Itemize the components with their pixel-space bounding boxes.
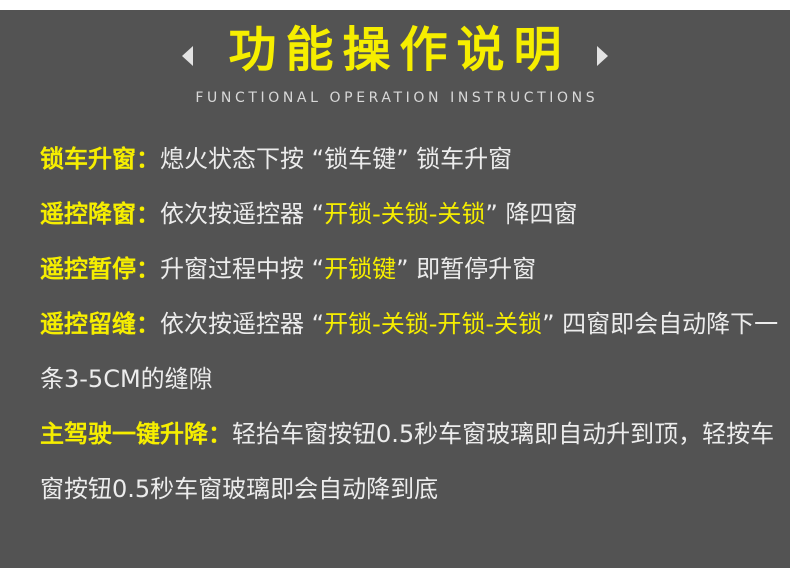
triangle-left-icon (182, 46, 193, 66)
instruction-text-a-3: 升窗过程中按 (160, 255, 312, 283)
instruction-text-b-3: 即暂停升窗 (409, 255, 537, 283)
instruction-text-a-2: 依次按遥控器 (160, 200, 312, 228)
instruction-colon-1: ： (136, 145, 160, 173)
top-white-margin (0, 0, 790, 10)
title-row: 功能操作说明 (0, 18, 790, 82)
instruction-quote-open-4: “ (312, 310, 324, 338)
instruction-quote-text-2: 开锁-关锁-关锁 (324, 200, 485, 228)
instruction-item-4: 遥控留缝：依次按遥控器 “开锁-关锁-开锁-关锁” 四窗即会自动降下一条3-5C… (40, 297, 780, 407)
page-title: 功能操作说明 (219, 21, 570, 79)
instruction-quote-close-3: ” (396, 255, 408, 283)
instruction-label-3: 遥控暂停 (40, 255, 136, 283)
instruction-item-2: 遥控降窗：依次按遥控器 “开锁-关锁-关锁” 降四窗 (40, 187, 780, 242)
instruction-quote-text-1: 锁车键 (324, 145, 396, 173)
instruction-colon-5: ： (208, 420, 232, 448)
instruction-colon-3: ： (136, 255, 160, 283)
page-subtitle: FUNCTIONAL OPERATION INSTRUCTIONS (0, 90, 790, 106)
instruction-quote-open-2: “ (312, 200, 324, 228)
instruction-text-b-1: 锁车升窗 (409, 145, 513, 173)
instruction-quote-open-3: “ (312, 255, 324, 283)
instruction-label-1: 锁车升窗 (40, 145, 136, 173)
instruction-item-5: 主驾驶一键升降：轻抬车窗按钮0.5秒车窗玻璃即自动升到顶，轻按车窗按钮0.5秒车… (40, 407, 780, 517)
instruction-quote-close-1: ” (396, 145, 408, 173)
instruction-text-a-4: 依次按遥控器 (160, 310, 312, 338)
instruction-text-b-2: 降四窗 (498, 200, 578, 228)
instruction-item-3: 遥控暂停：升窗过程中按 “开锁键” 即暂停升窗 (40, 242, 780, 297)
instruction-quote-text-4: 开锁-关锁-开锁-关锁 (324, 310, 542, 338)
instruction-label-4: 遥控留缝 (40, 310, 136, 338)
instruction-colon-4: ： (136, 310, 160, 338)
instruction-label-2: 遥控降窗 (40, 200, 136, 228)
instruction-quote-open-1: “ (312, 145, 324, 173)
instruction-label-5: 主驾驶一键升降 (40, 420, 208, 448)
instruction-quote-close-2: ” (485, 200, 497, 228)
page-header: 功能操作说明 FUNCTIONAL OPERATION INSTRUCTIONS (0, 10, 790, 120)
dark-panel: 功能操作说明 FUNCTIONAL OPERATION INSTRUCTIONS… (0, 10, 790, 568)
instruction-text-a-1: 熄火状态下按 (160, 145, 312, 173)
instruction-quote-text-3: 开锁键 (324, 255, 396, 283)
instruction-page: 功能操作说明 FUNCTIONAL OPERATION INSTRUCTIONS… (0, 0, 790, 568)
triangle-right-icon (597, 46, 608, 66)
instruction-item-1: 锁车升窗：熄火状态下按 “锁车键” 锁车升窗 (40, 132, 780, 187)
instruction-list: 锁车升窗：熄火状态下按 “锁车键” 锁车升窗 遥控降窗：依次按遥控器 “开锁-关… (40, 132, 780, 517)
instruction-quote-close-4: ” (542, 310, 554, 338)
instruction-colon-2: ： (136, 200, 160, 228)
